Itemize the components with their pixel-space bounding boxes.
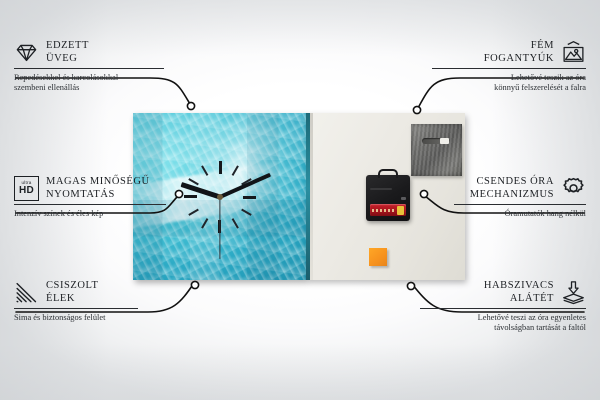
hanger-slot (422, 138, 450, 144)
callout-glass-desc-2: szembeni ellenállás (14, 83, 164, 94)
polished-edge-icon (14, 280, 39, 305)
foam-layers-icon (561, 280, 586, 305)
callout-tempered-glass: EDZETT ÜVEG Repedésekkel és karcolásokka… (14, 40, 164, 94)
callout-print-divider (14, 204, 166, 205)
callout-handles-divider (432, 68, 586, 69)
callout-edges-desc-1: Sima és biztonságos felület (14, 313, 138, 324)
callout-foam-desc-2: távolságban tartását a faltól (420, 323, 586, 334)
wall-hanger-icon (561, 40, 586, 65)
ultra-hd-icon: ultra HD (14, 176, 39, 201)
metal-hanger-plate (411, 124, 462, 176)
callout-edges-head: CSISZOLT ÉLEK (14, 280, 138, 305)
callout-glass-title: EDZETT ÜVEG (46, 40, 89, 65)
infographic-stage: EDZETT ÜVEG Repedésekkel és karcolásokka… (0, 0, 600, 400)
callout-foam-spacer: HABSZIVACS ALÁTÉT Lehetővé teszi az óra … (420, 280, 586, 334)
callout-quiet-title: CSENDES ÓRA MECHANIZMUS (470, 176, 554, 201)
battery (370, 204, 406, 216)
callout-glass-head: EDZETT ÜVEG (14, 40, 164, 65)
clock-side-edge-highlight (310, 113, 313, 280)
connector-endpoint-foam (407, 282, 414, 289)
connector-endpoint-edges (191, 281, 198, 288)
callout-edges-divider (14, 308, 138, 309)
connector-endpoint-glass (187, 102, 194, 109)
callout-glass-divider (14, 68, 164, 69)
callout-silent-movement: CSENDES ÓRA MECHANIZMUS Óramutatók hang … (454, 176, 586, 219)
movement-detail-line (370, 188, 392, 190)
callout-print-desc-1: Intenzív színek és éles kép (14, 209, 166, 220)
clock-second-hand (219, 197, 220, 259)
callout-glass-desc-1: Repedésekkel és karcolásokkal (14, 73, 164, 84)
clock-movement-module (366, 175, 410, 221)
battery-label (372, 209, 396, 212)
callout-print-title: MAGAS MINŐSÉGŰ NYOMTATÁS (46, 176, 150, 201)
callout-handles-head: FÉM FOGANTYÚK (432, 40, 586, 65)
battery-plus-terminal (397, 206, 404, 215)
callout-handles-desc-1: Lehetővé teszik az óra (432, 73, 586, 84)
callout-high-quality-print: ultra HD MAGAS MINŐSÉGŰ NYOMTATÁS Intenz… (14, 176, 166, 219)
foam-spacer-pad (369, 248, 387, 266)
callout-edges-title: CSISZOLT ÉLEK (46, 280, 98, 305)
callout-foam-title: HABSZIVACS ALÁTÉT (484, 280, 554, 305)
callout-handles-desc-2: könnyű felszerelését a falra (432, 83, 586, 94)
callout-handles-title: FÉM FOGANTYÚK (484, 40, 554, 65)
callout-quiet-head: CSENDES ÓRA MECHANIZMUS (454, 176, 586, 201)
callout-foam-head: HABSZIVACS ALÁTÉT (420, 280, 586, 305)
callout-print-head: ultra HD MAGAS MINŐSÉGŰ NYOMTATÁS (14, 176, 166, 201)
clock-hand-cap (217, 194, 223, 200)
movement-hook (378, 169, 398, 178)
callout-foam-desc-1: Lehetővé teszi az óra egyenletes (420, 313, 586, 324)
ultra-hd-icon-large-text: HD (19, 186, 34, 196)
callout-foam-divider (420, 308, 586, 309)
clock-back-product-image (306, 113, 465, 280)
callout-polished-edges: CSISZOLT ÉLEK Sima és biztonságos felüle… (14, 280, 138, 323)
diamond-icon (14, 40, 39, 65)
callout-quiet-divider (454, 204, 586, 205)
callout-quiet-desc-1: Óramutatók hang nélkül (454, 209, 586, 220)
callout-metal-handles: FÉM FOGANTYÚK Lehetővé teszik az óra kön… (432, 40, 586, 94)
movement-detail-dot (401, 197, 406, 200)
gear-icon (561, 176, 586, 201)
